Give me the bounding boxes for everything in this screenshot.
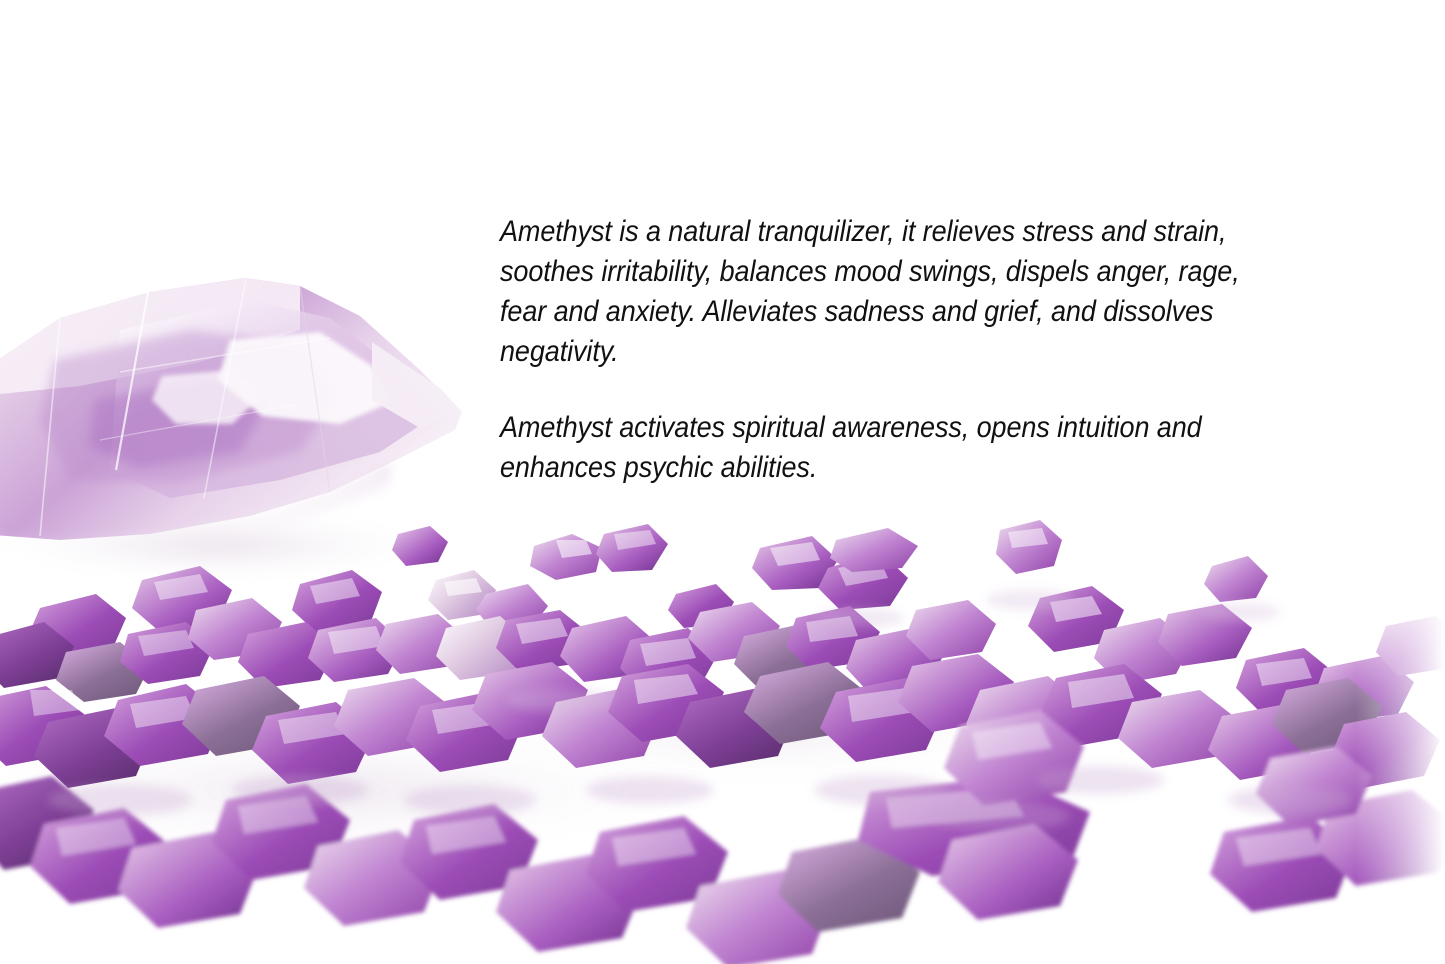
top-fade [0,0,1445,120]
amethyst-point-shape [0,278,462,568]
amethyst-chip-cluster [0,520,1445,964]
poster-canvas: Infused with Amethyst Crystals Amethyst … [0,0,1445,964]
paragraph-benefits: Amethyst is a natural tranquilizer, it r… [500,212,1276,372]
paragraph-spiritual: Amethyst activates spiritual awareness, … [500,408,1276,488]
body-copy: Amethyst is a natural tranquilizer, it r… [500,212,1362,488]
